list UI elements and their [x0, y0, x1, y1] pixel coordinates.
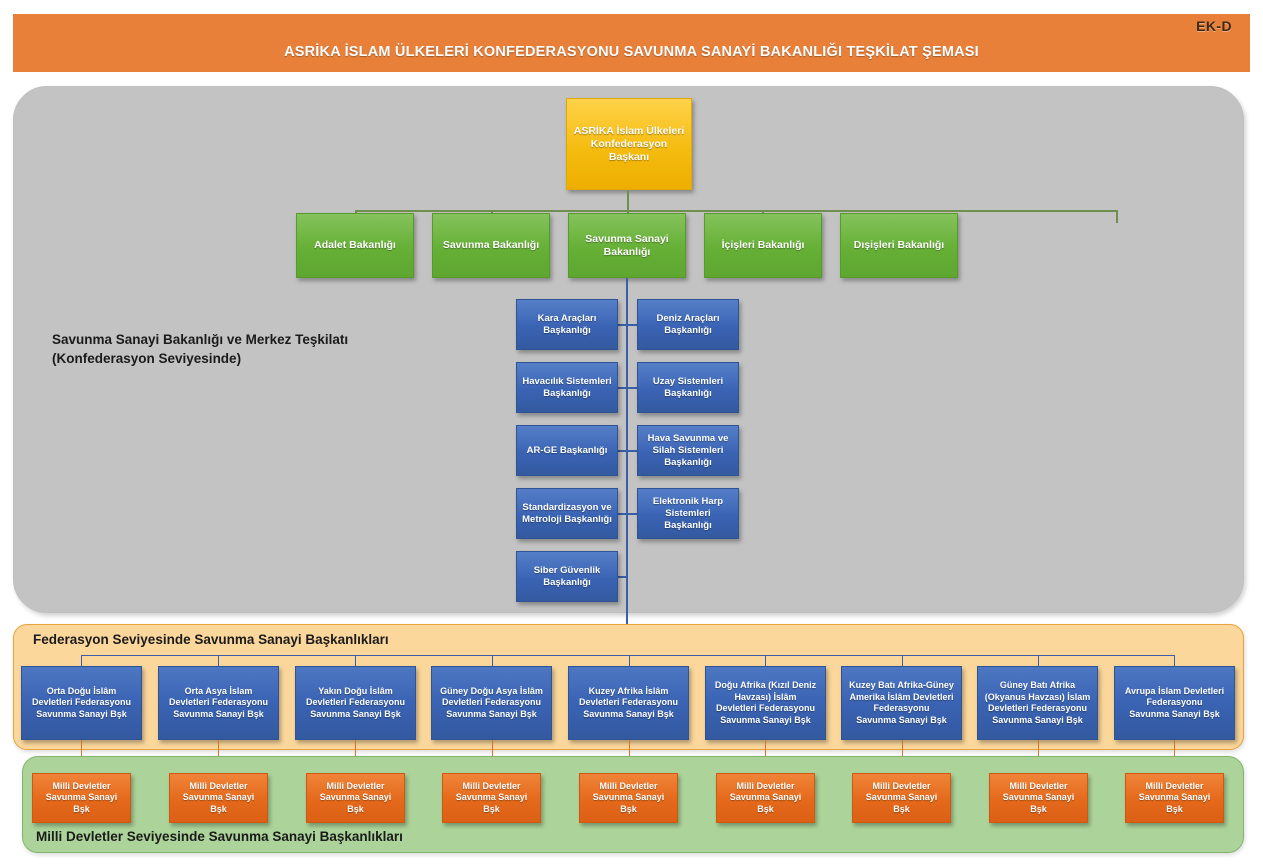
- ministry-label-line1: Savunma Sanayi: [585, 233, 668, 246]
- federation-label-line3: Savunma Sanayi Bşk: [579, 709, 678, 721]
- node-dept-electronic-warfare-systems[interactable]: Elektronik Harp Sistemleri Başkanlığı: [637, 488, 739, 539]
- federation-label-line4: Savunma Sanayi Bşk: [849, 715, 954, 727]
- national-label-line2: Savunma Sanayi Bşk: [37, 792, 126, 815]
- national-node[interactable]: Milli Devletler Savunma Sanayi Bşk: [1125, 773, 1224, 823]
- federation-label-line3: Savunma Sanayi Bşk: [32, 709, 131, 721]
- node-dept-standardization-metrology[interactable]: Standardizasyon ve Metroloji Başkanlığı: [516, 488, 618, 539]
- national-node[interactable]: Milli Devletler Savunma Sanayi Bşk: [32, 773, 131, 823]
- dept-label-line2: Başkanlığı: [656, 325, 719, 337]
- federation-label-line2: Devletleri Federasyonu: [306, 697, 405, 709]
- national-label-line1: Milli Devletler: [1130, 781, 1219, 793]
- federation-label-line1: Kuzey Batı Afrika-Güney: [849, 680, 954, 692]
- national-label-line2: Savunma Sanayi Bşk: [447, 792, 536, 815]
- federation-label-line1: Güney Doğu Asya İslâm: [440, 686, 543, 698]
- dept-label-line2: Metroloji Başkanlığı: [522, 514, 612, 526]
- side-label-line2: (Konfederasyon Seviyesinde): [52, 351, 241, 366]
- node-confederation-president[interactable]: ASRİKA İslam Ülkeleri Konfederasyon Başk…: [566, 98, 692, 190]
- connector-dept-left-5: [618, 576, 627, 578]
- federation-label-line1: Güney Batı Afrika: [985, 680, 1091, 692]
- federation-node[interactable]: Güney Doğu Asya İslâm Devletleri Federas…: [431, 666, 552, 740]
- node-dept-land-vehicles[interactable]: Kara Araçları Başkanlığı: [516, 299, 618, 350]
- national-node[interactable]: Milli Devletler Savunma Sanayi Bşk: [169, 773, 268, 823]
- federation-panel-caption: Federasyon Seviyesinde Savunma Sanayi Ba…: [33, 632, 389, 647]
- national-node[interactable]: Milli Devletler Savunma Sanayi Bşk: [579, 773, 678, 823]
- federation-label-line1: Orta Asya İslam: [169, 686, 268, 698]
- node-dept-r-and-d[interactable]: AR-GE Başkanlığı: [516, 425, 618, 476]
- national-label-line2: Savunma Sanayi Bşk: [857, 792, 946, 815]
- national-label-line1: Milli Devletler: [174, 781, 263, 793]
- connector-dept-left-3: [618, 450, 627, 452]
- national-node[interactable]: Milli Devletler Savunma Sanayi Bşk: [852, 773, 951, 823]
- dept-label-line1: Deniz Araçları: [656, 313, 719, 325]
- dept-label-line2: Başkanlığı: [522, 388, 611, 400]
- federation-node[interactable]: Doğu Afrika (Kızıl Deniz Havzası) İslâm …: [705, 666, 826, 740]
- national-label-line1: Milli Devletler: [37, 781, 126, 793]
- federation-node[interactable]: Orta Doğu İslâm Devletleri Federasyonu S…: [21, 666, 142, 740]
- federation-label-line4: Savunma Sanayi Bşk: [985, 715, 1091, 727]
- federation-node[interactable]: Güney Batı Afrika (Okyanus Havzası) İsla…: [977, 666, 1098, 740]
- node-dept-cyber-security[interactable]: Siber Güvenlik Başkanlığı: [516, 551, 618, 602]
- confederation-side-label: Savunma Sanayi Bakanlığı ve Merkez Teşki…: [52, 330, 422, 368]
- national-label-line2: Savunma Sanayi Bşk: [584, 792, 673, 815]
- connector-root-stem: [627, 190, 629, 211]
- national-label-line1: Milli Devletler: [721, 781, 810, 793]
- dept-label-line1: Hava Savunma ve: [648, 433, 729, 445]
- federation-label-line3: Devletleri Federasyonu: [985, 703, 1091, 715]
- ministry-label-line1: Dışişleri Bakanlığı: [854, 239, 944, 252]
- node-ministry-interior[interactable]: İçişleri Bakanlığı: [704, 213, 822, 278]
- federation-label-line2: Amerika İslâm Devletleri: [849, 692, 954, 704]
- dept-label-line2: Başkanlığı: [653, 388, 723, 400]
- ministry-label-line1: İçişleri Bakanlığı: [722, 239, 805, 252]
- dept-label-line1: Standardizasyon ve: [522, 502, 612, 514]
- node-dept-air-defence-weapon-systems[interactable]: Hava Savunma ve Silah Sistemleri Başkanl…: [637, 425, 739, 476]
- federation-label-line4: Savunma Sanayi Bşk: [715, 715, 816, 727]
- node-dept-aviation-systems[interactable]: Havacılık Sistemleri Başkanlığı: [516, 362, 618, 413]
- root-label-line2: Konfederasyon Başkanı: [571, 138, 687, 164]
- dept-label-line1: Kara Araçları: [538, 313, 597, 325]
- dept-label-line2: Başkanlığı: [534, 577, 601, 589]
- national-label-line1: Milli Devletler: [857, 781, 946, 793]
- federation-node[interactable]: Orta Asya İslam Devletleri Federasyonu S…: [158, 666, 279, 740]
- federation-label-line3: Savunma Sanayi Bşk: [1125, 709, 1224, 721]
- national-label-line2: Savunma Sanayi Bşk: [174, 792, 263, 815]
- national-label-line2: Savunma Sanayi Bşk: [311, 792, 400, 815]
- root-label-line1: ASRİKA İslam Ülkeleri: [571, 125, 687, 138]
- header-bar: EK-D ASRİKA İSLAM ÜLKELERİ KONFEDERASYON…: [13, 14, 1250, 72]
- org-chart-canvas: EK-D ASRİKA İSLAM ÜLKELERİ KONFEDERASYON…: [0, 0, 1263, 866]
- national-label-line1: Milli Devletler: [584, 781, 673, 793]
- connector-dept-left-2: [618, 387, 627, 389]
- national-node[interactable]: Milli Devletler Savunma Sanayi Bşk: [716, 773, 815, 823]
- dept-label-line1: Uzay Sistemleri: [653, 376, 723, 388]
- federation-label-line2: Federasyonu: [1125, 697, 1224, 709]
- federation-node[interactable]: Yakın Doğu İslâm Devletleri Federasyonu …: [295, 666, 416, 740]
- federation-node[interactable]: Kuzey Afrika İslâm Devletleri Federasyon…: [568, 666, 689, 740]
- side-label-line1: Savunma Sanayi Bakanlığı ve Merkez Teşki…: [52, 332, 348, 347]
- federation-label-line1: Doğu Afrika (Kızıl Deniz: [715, 680, 816, 692]
- connector-dept-left-1: [618, 324, 627, 326]
- national-label-line1: Milli Devletler: [994, 781, 1083, 793]
- national-label-line2: Savunma Sanayi Bşk: [721, 792, 810, 815]
- ministry-label-line1: Adalet Bakanlığı: [314, 239, 396, 252]
- connector-federation-bus: [81, 655, 1175, 656]
- dept-label-line1: Siber Güvenlik: [534, 565, 601, 577]
- national-label-line1: Milli Devletler: [447, 781, 536, 793]
- connector-dept-left-4: [618, 513, 627, 515]
- dept-label-line2: Silah Sistemleri: [648, 445, 729, 457]
- dept-label-line3: Başkanlığı: [648, 457, 729, 469]
- federation-label-line1: Avrupa İslam Devletleri: [1125, 686, 1224, 698]
- federation-label-line1: Yakın Doğu İslâm: [306, 686, 405, 698]
- annex-tag: EK-D: [1196, 18, 1232, 34]
- federation-node[interactable]: Avrupa İslam Devletleri Federasyonu Savu…: [1114, 666, 1235, 740]
- page-title: ASRİKA İSLAM ÜLKELERİ KONFEDERASYONU SAV…: [13, 44, 1250, 60]
- federation-label-line3: Devletleri Federasyonu: [715, 703, 816, 715]
- node-ministry-defence[interactable]: Savunma Bakanlığı: [432, 213, 550, 278]
- national-label-line2: Savunma Sanayi Bşk: [1130, 792, 1219, 815]
- federation-label-line3: Savunma Sanayi Bşk: [306, 709, 405, 721]
- dept-label-line1: Elektronik Harp: [642, 496, 734, 508]
- node-dept-space-systems[interactable]: Uzay Sistemleri Başkanlığı: [637, 362, 739, 413]
- node-ministry-foreign-affairs[interactable]: Dışişleri Bakanlığı: [840, 213, 958, 278]
- federation-label-line3: Savunma Sanayi Bşk: [169, 709, 268, 721]
- national-node[interactable]: Milli Devletler Savunma Sanayi Bşk: [989, 773, 1088, 823]
- dept-label-line1: Havacılık Sistemleri: [522, 376, 611, 388]
- ministry-label-line1: Savunma Bakanlığı: [443, 239, 539, 252]
- federation-label-line2: (Okyanus Havzası) İslam: [985, 692, 1091, 704]
- federation-label-line3: Savunma Sanayi Bşk: [440, 709, 543, 721]
- federation-label-line3: Federasyonu: [849, 703, 954, 715]
- national-label-line1: Milli Devletler: [311, 781, 400, 793]
- dept-label-line1: AR-GE Başkanlığı: [527, 445, 608, 457]
- national-node[interactable]: Milli Devletler Savunma Sanayi Bşk: [306, 773, 405, 823]
- ministry-label-line2: Bakanlığı: [585, 246, 668, 259]
- federation-label-line2: Havzası) İslâm: [715, 692, 816, 704]
- federation-label-line2: Devletleri Federasyonu: [169, 697, 268, 709]
- federation-label-line1: Kuzey Afrika İslâm: [579, 686, 678, 698]
- federation-label-line1: Orta Doğu İslâm: [32, 686, 131, 698]
- federation-label-line2: Devletleri Federasyonu: [579, 697, 678, 709]
- national-node[interactable]: Milli Devletler Savunma Sanayi Bşk: [442, 773, 541, 823]
- federation-label-line2: Devletleri Federasyonu: [440, 697, 543, 709]
- node-ministry-defence-industry[interactable]: Savunma Sanayi Bakanlığı: [568, 213, 686, 278]
- dept-label-line2: Sistemleri Başkanlığı: [642, 508, 734, 532]
- national-panel-caption: Milli Devletler Seviyesinde Savunma Sana…: [36, 829, 403, 844]
- connector-department-spine: [626, 278, 628, 672]
- connector-ministry-drop-5: [1116, 210, 1118, 223]
- federation-node[interactable]: Kuzey Batı Afrika-Güney Amerika İslâm De…: [841, 666, 962, 740]
- node-dept-naval-vehicles[interactable]: Deniz Araçları Başkanlığı: [637, 299, 739, 350]
- connector-ministry-bus: [355, 210, 1117, 212]
- federation-label-line2: Devletleri Federasyonu: [32, 697, 131, 709]
- dept-label-line2: Başkanlığı: [538, 325, 597, 337]
- node-ministry-justice[interactable]: Adalet Bakanlığı: [296, 213, 414, 278]
- national-label-line2: Savunma Sanayi Bşk: [994, 792, 1083, 815]
